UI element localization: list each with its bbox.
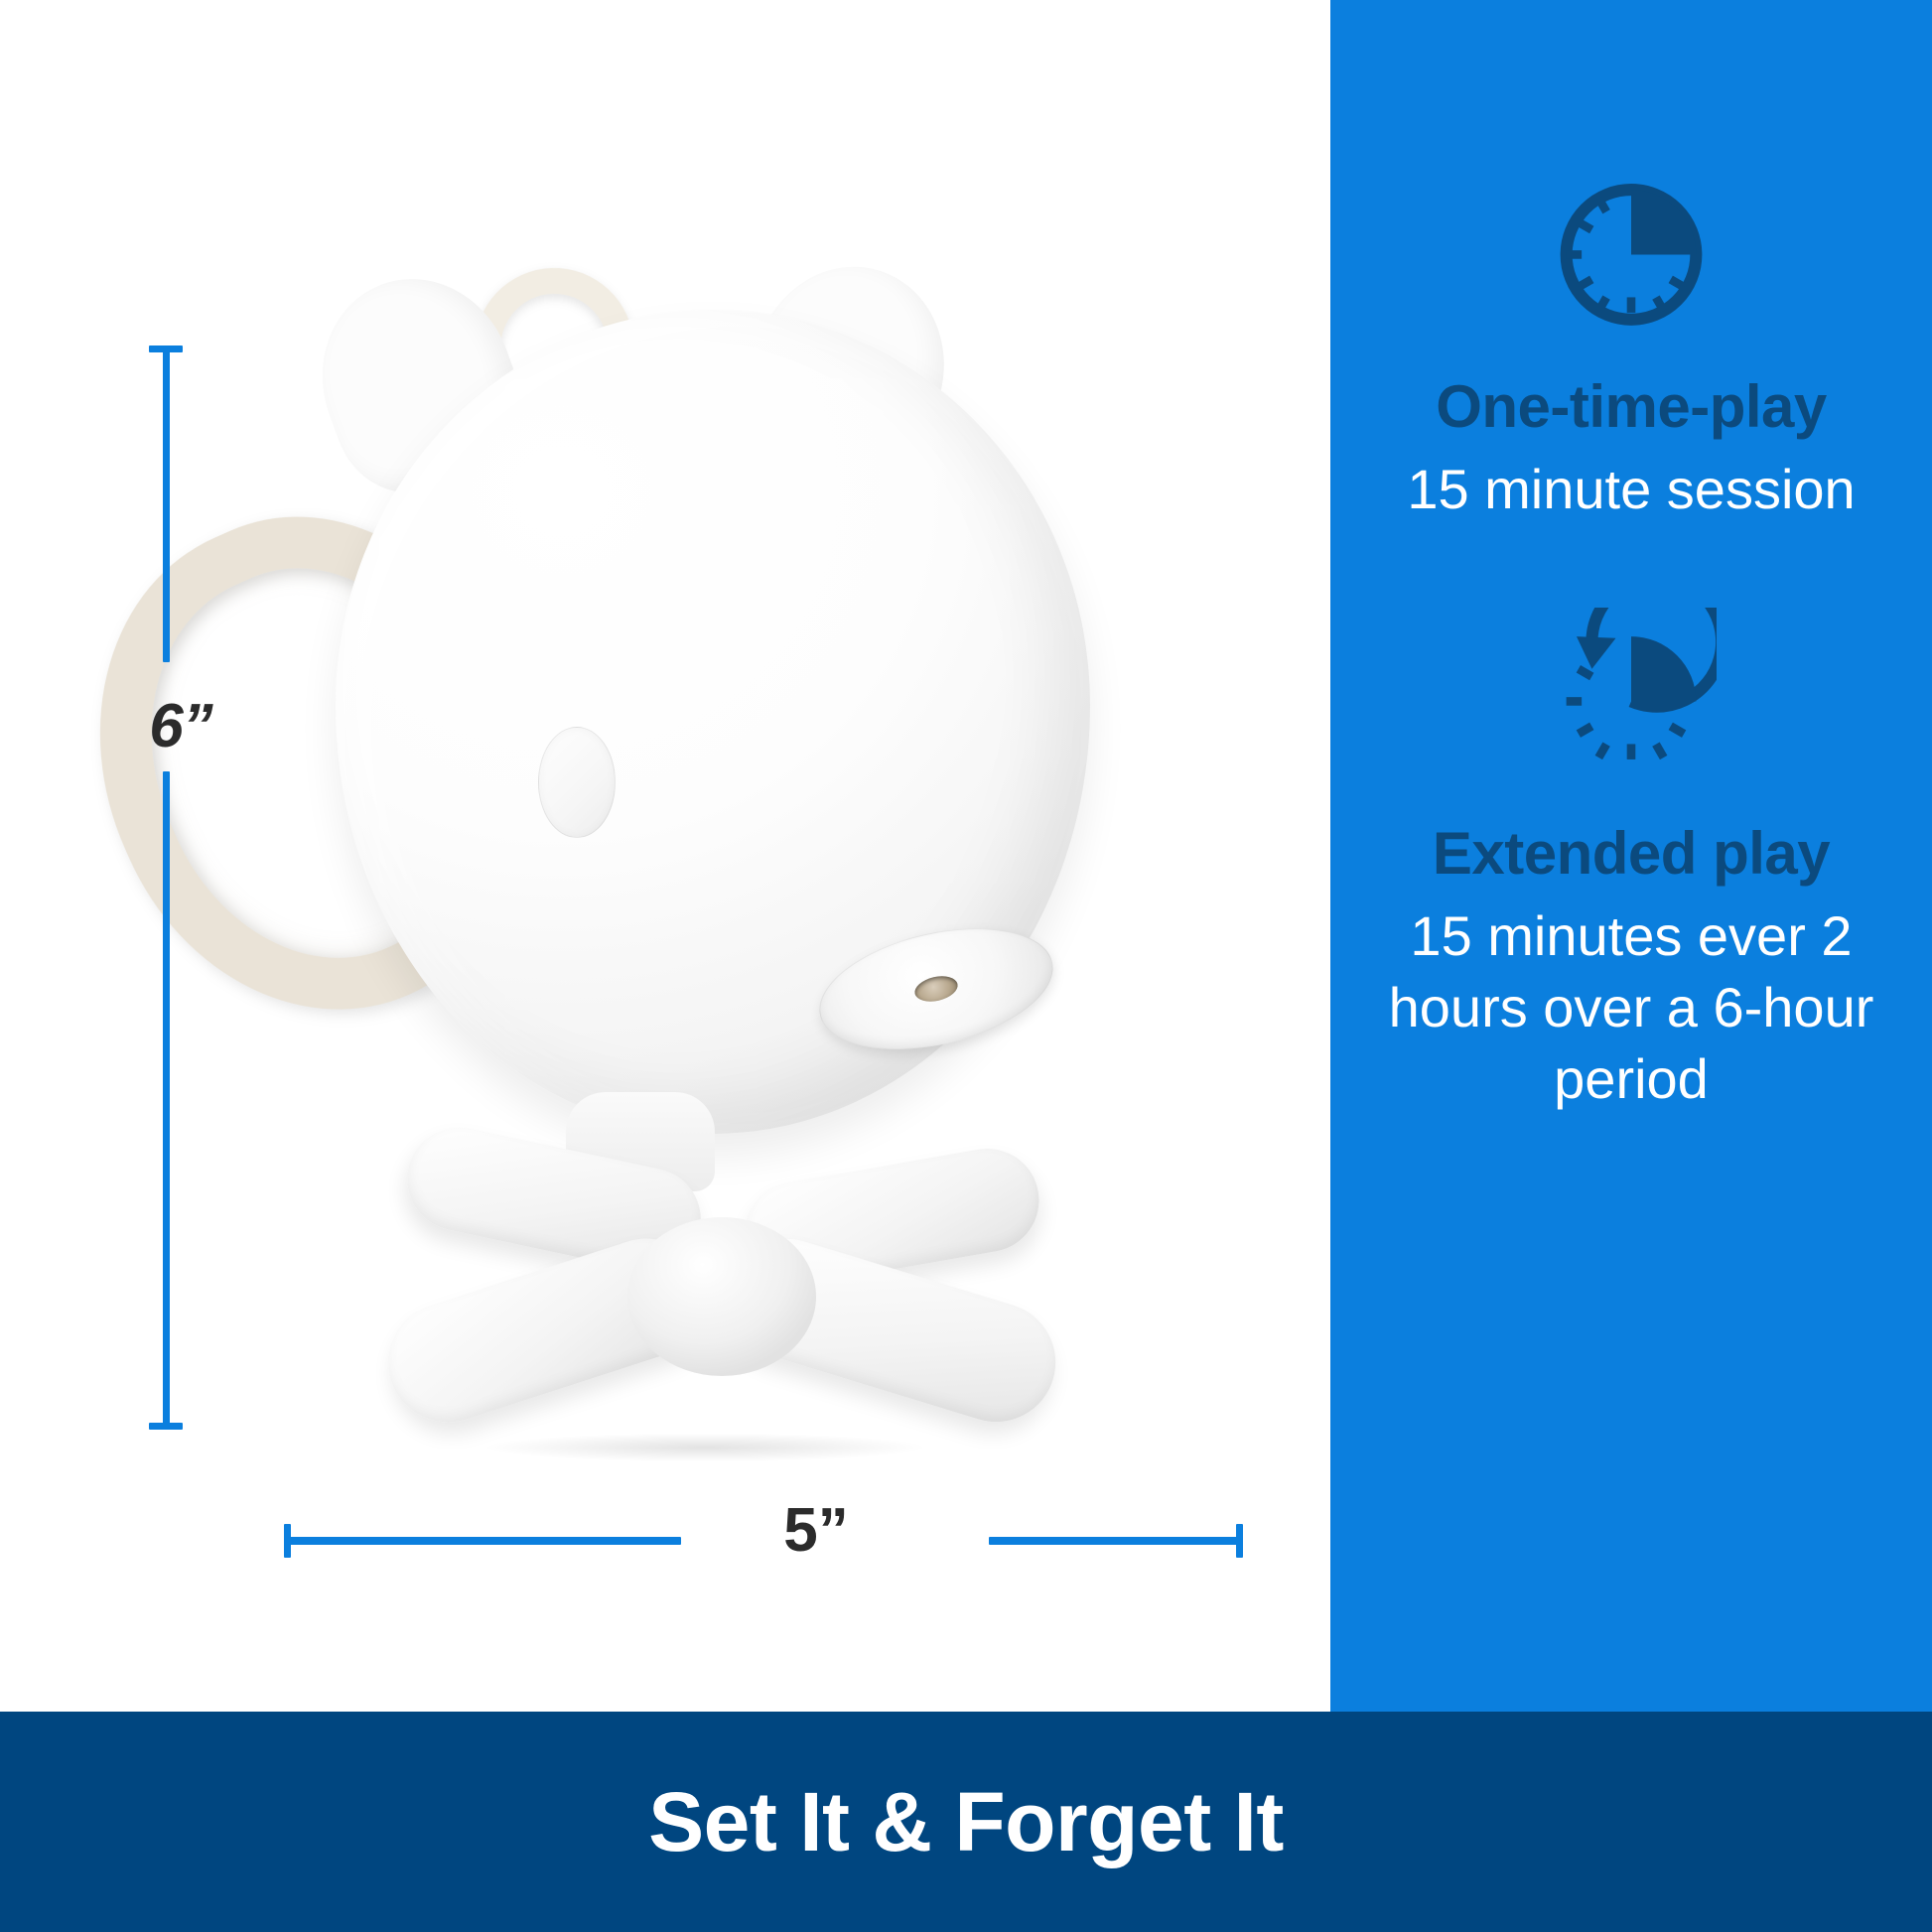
stand-center-hub <box>627 1217 816 1376</box>
dimension-line-lower <box>163 771 170 1427</box>
feature-one-time-play: One-time-play 15 minute session <box>1330 161 1932 524</box>
feature-body: 15 minutes ever 2 hours over a 6-hour pe… <box>1373 900 1889 1114</box>
projector-lens <box>807 907 1064 1069</box>
clock-repeat-arrow-icon <box>1546 608 1717 788</box>
height-dimension-label: 6” <box>121 691 240 761</box>
feature-title: Extended play <box>1433 822 1830 887</box>
feature-panel: One-time-play 15 minute session Extended <box>1330 0 1932 1712</box>
dimension-cap-bottom <box>149 1423 183 1430</box>
power-button <box>538 727 616 838</box>
feature-title: One-time-play <box>1436 375 1827 440</box>
dimension-line-left <box>288 1537 681 1545</box>
dimension-cap-right <box>1236 1524 1243 1558</box>
cross-shaped-stand <box>357 1122 1072 1459</box>
width-dimension-label: 5” <box>679 1495 953 1566</box>
infographic-canvas: 6” 5” <box>0 0 1932 1932</box>
banner-tagline: Set It & Forget It <box>648 1774 1284 1870</box>
feature-extended-play: Extended play 15 minutes ever 2 hours ov… <box>1330 608 1932 1114</box>
dimension-line-right <box>989 1537 1239 1545</box>
bottom-banner: Set It & Forget It <box>0 1712 1932 1932</box>
product-device <box>149 248 1162 1360</box>
dimension-line-upper <box>163 348 170 662</box>
clock-quarter-icon <box>1546 161 1717 342</box>
feature-body: 15 minute session <box>1407 454 1855 525</box>
product-image-panel: 6” 5” <box>0 0 1330 1712</box>
product-drop-shadow <box>397 1428 1013 1467</box>
device-head-body <box>336 310 1090 1134</box>
height-dimension-marker: 6” <box>149 345 288 1430</box>
width-dimension-marker: 5” <box>284 1517 1243 1563</box>
